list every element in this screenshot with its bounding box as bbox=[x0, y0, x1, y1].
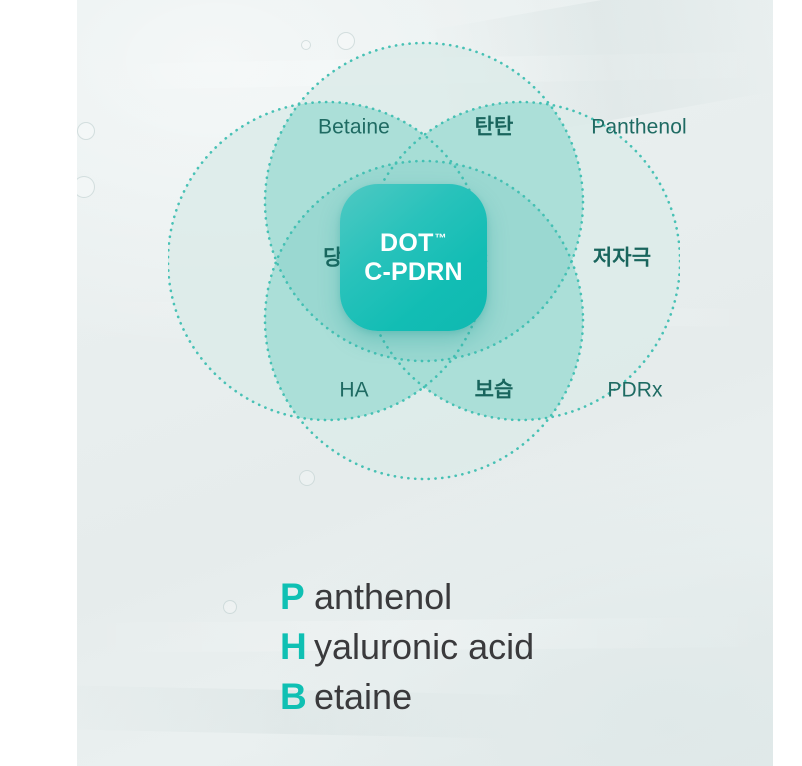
acronym-initial-b: B bbox=[280, 678, 312, 715]
acronym-row-betaine: B etaine bbox=[77, 678, 773, 728]
acronym-row-panthenol: P anthenol bbox=[77, 578, 773, 628]
badge-brand-dot: DOT bbox=[380, 229, 434, 257]
trademark-icon: ™ bbox=[435, 231, 447, 245]
venn-label-firming: 탄탄 bbox=[475, 117, 514, 138]
acronym-rest-panthenol: anthenol bbox=[314, 579, 452, 615]
venn-label-pdrx: PDRx bbox=[607, 380, 662, 401]
acronym-initial-p: P bbox=[280, 578, 312, 615]
paper-speck bbox=[77, 176, 95, 198]
badge-line-1: DOT™ bbox=[380, 229, 447, 257]
venn-label-panthenol: Panthenol bbox=[591, 117, 686, 138]
acronym-rest-betaine: etaine bbox=[314, 679, 412, 715]
dot-cpdrn-badge: DOT™ C-PDRN bbox=[340, 184, 487, 331]
acronym-row-hyaluronic-acid: H yaluronic acid bbox=[77, 628, 773, 678]
paper-speck bbox=[77, 122, 95, 140]
badge-line-2: C-PDRN bbox=[364, 258, 462, 286]
acronym-rest-hyaluronic-acid: yaluronic acid bbox=[314, 629, 534, 665]
acronym-list: P anthenol H yaluronic acid B etaine bbox=[77, 578, 773, 728]
acronym-initial-h: H bbox=[280, 628, 312, 665]
venn-label-ha: HA bbox=[339, 380, 368, 401]
venn-label-betaine: Betaine bbox=[318, 117, 390, 138]
venn-label-low-irritant: 저자극 bbox=[593, 248, 651, 269]
venn-label-moisture: 보습 bbox=[475, 380, 514, 401]
screenshot-root: Betaine Panthenol HA PDRx 탄탄 당김개선 저자극 보습… bbox=[0, 0, 802, 766]
